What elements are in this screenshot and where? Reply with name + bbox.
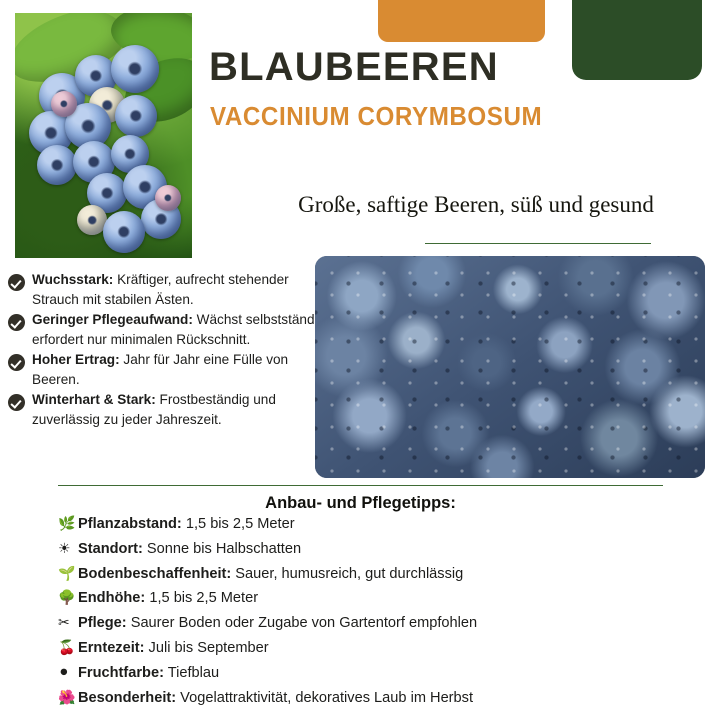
feature-label: Wuchsstark:	[32, 272, 113, 287]
list-item: Geringer Pflegeaufwand: Wächst selbststä…	[8, 310, 338, 349]
feature-label: Geringer Pflegeaufwand:	[32, 312, 193, 327]
berry-highlights	[315, 256, 705, 478]
list-item: ✂ Pflege: Saurer Boden oder Zugabe von G…	[58, 616, 698, 641]
tip-label: Erntezeit:	[78, 640, 145, 656]
tip-value: 1,5 bis 2,5 Meter	[182, 516, 295, 532]
tip-text: Standort: Sonne bis Halbschatten	[78, 542, 301, 557]
tip-value: Sauer, humusreich, gut durchlässig	[231, 566, 463, 582]
seedling-icon: 🌱	[58, 567, 78, 581]
tip-label: Pflege:	[78, 615, 127, 631]
tree-icon: 🌳	[58, 591, 78, 605]
gallery-image-blueberries	[315, 256, 705, 478]
tip-value: Saurer Boden oder Zugabe von Gartentorf …	[127, 615, 477, 631]
check-circle-icon	[8, 274, 25, 291]
tip-value: Sonne bis Halbschatten	[143, 541, 301, 557]
herb-icon: 🌿	[58, 517, 78, 531]
feature-text: Hoher Ertrag: Jahr für Jahr eine Fülle v…	[32, 350, 338, 389]
feature-text: Geringer Pflegeaufwand: Wächst selbststä…	[32, 310, 338, 349]
page-subtitle-latin-name: VACCINIUM CORYMBOSUM	[210, 103, 542, 129]
tips-heading: Anbau- und Pflegetipps:	[58, 494, 663, 513]
tip-value: Juli bis September	[145, 640, 269, 656]
tip-label: Bodenbeschaffenheit:	[78, 566, 231, 582]
tip-text: Endhöhe: 1,5 bis 2,5 Meter	[78, 591, 258, 606]
tip-label: Endhöhe:	[78, 590, 145, 606]
tip-text: Erntezeit: Juli bis September	[78, 641, 269, 656]
hibiscus-icon: 🌺	[58, 691, 78, 705]
divider-mid	[58, 485, 663, 486]
tip-label: Pflanzabstand:	[78, 516, 182, 532]
tip-text: Pflanzabstand: 1,5 bis 2,5 Meter	[78, 517, 295, 532]
feature-label: Hoher Ertrag:	[32, 352, 120, 367]
tip-label: Besonderheit:	[78, 690, 176, 706]
list-item: ⚫ Fruchtfarbe: Tiefblau	[58, 666, 698, 691]
tagline: Große, saftige Beeren, süß und gesund	[276, 192, 676, 218]
list-item: Winterhart & Stark: Frostbeständig und z…	[8, 390, 338, 429]
berry-pink	[155, 185, 181, 211]
berry-pink	[51, 91, 77, 117]
list-item: ☀ Standort: Sonne bis Halbschatten	[58, 542, 698, 567]
list-item: 🌺 Besonderheit: Vogelattraktivität, deko…	[58, 691, 698, 716]
berry	[103, 211, 145, 253]
berry	[115, 95, 157, 137]
list-item: Wuchsstark: Kräftiger, aufrecht stehende…	[8, 270, 338, 309]
tip-value: Tiefblau	[164, 665, 219, 681]
tip-value: Vogelattraktivität, dekoratives Laub im …	[176, 690, 473, 706]
feature-text: Winterhart & Stark: Frostbeständig und z…	[32, 390, 338, 429]
scissors-icon: ✂	[58, 616, 78, 630]
feature-text: Wuchsstark: Kräftiger, aufrecht stehende…	[32, 270, 338, 309]
list-item: 🍒 Erntezeit: Juli bis September	[58, 641, 698, 666]
tip-value: 1,5 bis 2,5 Meter	[145, 590, 258, 606]
hero-image-blueberry-bush	[15, 13, 192, 258]
divider-top	[425, 243, 651, 244]
check-circle-icon	[8, 394, 25, 411]
feature-label: Winterhart & Stark:	[32, 392, 156, 407]
tips-list: 🌿 Pflanzabstand: 1,5 bis 2,5 Meter ☀ Sta…	[58, 517, 698, 715]
list-item: 🌳 Endhöhe: 1,5 bis 2,5 Meter	[58, 591, 698, 616]
list-item: 🌿 Pflanzabstand: 1,5 bis 2,5 Meter	[58, 517, 698, 542]
tip-text: Pflege: Saurer Boden oder Zugabe von Gar…	[78, 616, 477, 631]
green-decor-block	[572, 0, 702, 80]
berry	[111, 45, 159, 93]
list-item: 🌱 Bodenbeschaffenheit: Sauer, humusreich…	[58, 567, 698, 592]
page-title: BLAUBEEREN	[209, 47, 499, 87]
tip-text: Bodenbeschaffenheit: Sauer, humusreich, …	[78, 567, 463, 582]
check-circle-icon	[8, 354, 25, 371]
tip-text: Fruchtfarbe: Tiefblau	[78, 666, 219, 681]
cherries-icon: 🍒	[58, 641, 78, 655]
berry	[37, 145, 77, 185]
tip-label: Fruchtfarbe:	[78, 665, 164, 681]
tip-label: Standort:	[78, 541, 143, 557]
list-item: Hoher Ertrag: Jahr für Jahr eine Fülle v…	[8, 350, 338, 389]
check-circle-icon	[8, 314, 25, 331]
sun-icon: ☀	[58, 542, 78, 556]
feature-list: Wuchsstark: Kräftiger, aufrecht stehende…	[8, 270, 338, 430]
black-circle-icon: ⚫	[58, 666, 78, 680]
orange-decor-block	[378, 0, 545, 42]
tip-text: Besonderheit: Vogelattraktivität, dekora…	[78, 691, 473, 706]
